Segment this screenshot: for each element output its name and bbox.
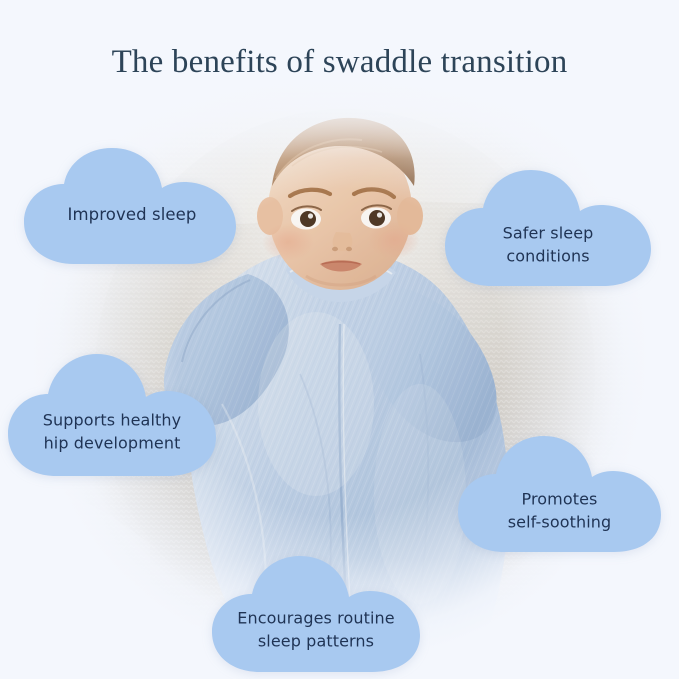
page-title: The benefits of swaddle transition xyxy=(0,44,679,81)
infographic-canvas: The benefits of swaddle transition Impro… xyxy=(0,0,679,679)
benefit-cloud-routine-sleep[interactable]: Encourages routine sleep patterns xyxy=(210,554,422,676)
benefit-cloud-label: Safer sleep conditions xyxy=(443,223,653,268)
benefit-cloud-label: Promotes self-soothing xyxy=(456,489,663,534)
benefit-cloud-safer-sleep[interactable]: Safer sleep conditions xyxy=(443,168,653,290)
benefit-cloud-self-soothing[interactable]: Promotes self-soothing xyxy=(456,434,663,556)
benefit-cloud-improved-sleep[interactable]: Improved sleep xyxy=(22,146,242,268)
benefit-cloud-label: Improved sleep xyxy=(22,203,242,226)
benefit-cloud-label: Supports healthy hip development xyxy=(6,410,218,455)
benefit-cloud-label: Encourages routine sleep patterns xyxy=(210,608,422,653)
benefit-cloud-hip-development[interactable]: Supports healthy hip development xyxy=(6,352,218,480)
